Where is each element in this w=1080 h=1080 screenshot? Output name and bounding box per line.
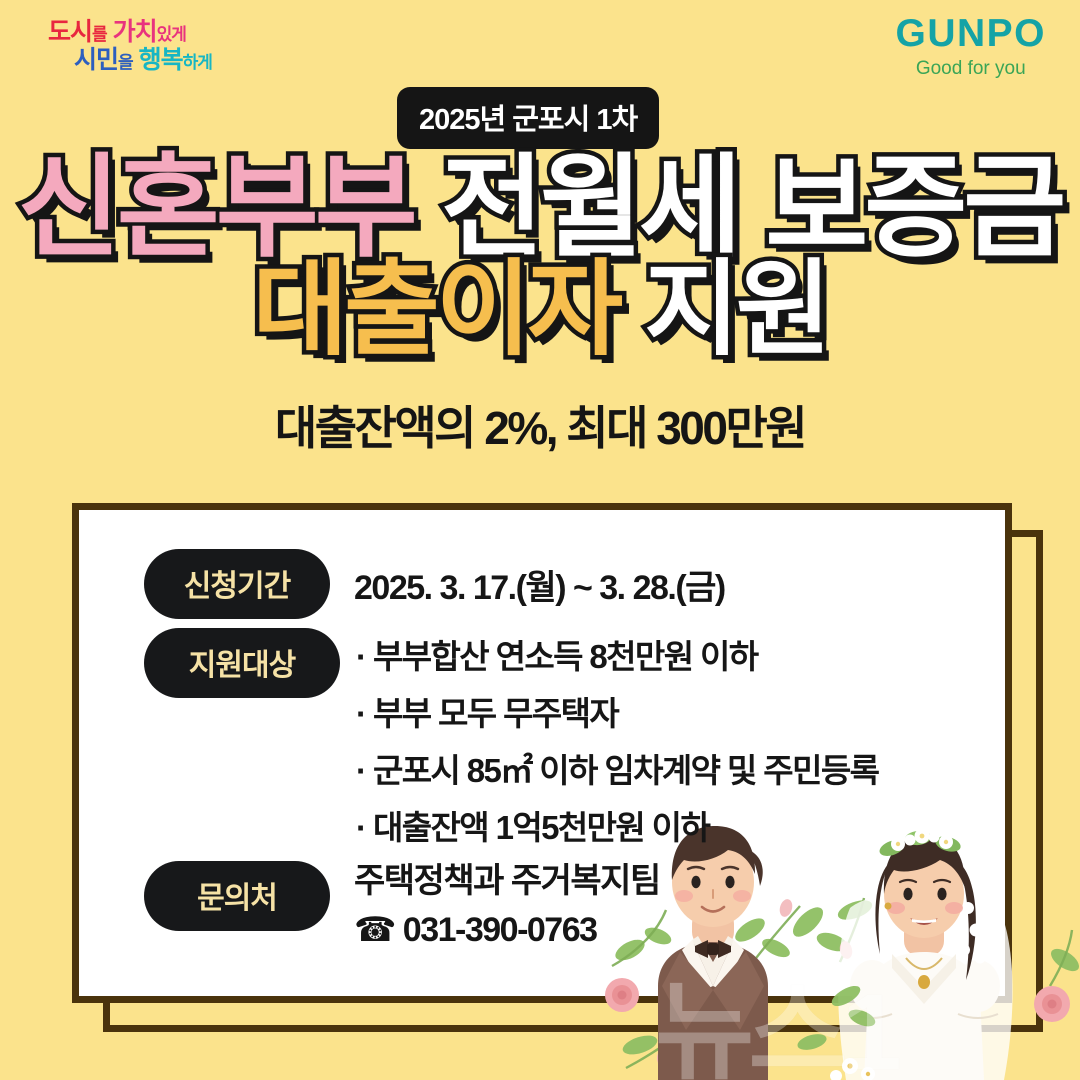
title-subtitle: 대출잔액의 2%, 최대 300만원 bbox=[0, 392, 1080, 458]
logo-wordmark: GUNPO bbox=[895, 14, 1046, 53]
logo-tagline: Good for you bbox=[895, 58, 1046, 80]
pill-eligibility: 지원대상 bbox=[144, 628, 340, 698]
contact-phone[interactable]: ☎ 031-390-0763 bbox=[354, 910, 660, 950]
slogan-word-simin: 시민 bbox=[74, 46, 118, 74]
poster-root: 도시를 가치있게 시민을 행복하게 GUNPO Good for you 202… bbox=[0, 0, 1080, 1080]
eligibility-bullet-3: · 군포시 85㎡ 이하 임차계약 및 주민등록 bbox=[356, 744, 878, 792]
row-eligibility: 지원대상 · 부부합산 연소득 8천만원 이하 · 부부 모두 무주택자 · 군… bbox=[144, 628, 878, 849]
program-badge: 2025년 군포시 1차 bbox=[397, 87, 659, 149]
gunpo-logo: GUNPO Good for you bbox=[895, 14, 1046, 80]
slogan-word-gachi: 가치 bbox=[113, 18, 157, 46]
pill-contact: 문의처 bbox=[144, 861, 330, 931]
slogan-particle-reul: 를 bbox=[92, 25, 107, 44]
title-word-support: 지원 bbox=[644, 252, 827, 368]
contact-department: 주택정책과 주거복지팀 bbox=[354, 853, 660, 902]
slogan-line-1: 도시를 가치있게 bbox=[48, 18, 212, 46]
eligibility-bullet-1: · 부부합산 연소득 8천만원 이하 bbox=[356, 630, 878, 678]
slogan-particle-eul: 을 bbox=[118, 53, 133, 72]
pill-application-period: 신청기간 bbox=[144, 549, 330, 619]
contact-lines: 주택정책과 주거복지팀 ☎ 031-390-0763 bbox=[354, 853, 660, 950]
info-rows: 신청기간 2025. 3. 17.(월) ~ 3. 28.(금) 지원대상 · … bbox=[72, 503, 1012, 1003]
application-period-value: 2025. 3. 17.(월) ~ 3. 28.(금) bbox=[354, 560, 725, 609]
slogan-word-haengbok: 행복 bbox=[139, 46, 183, 74]
eligibility-bullet-4: · 대출잔액 1억5천만원 이하 bbox=[356, 801, 878, 849]
slogan-word-dosi: 도시 bbox=[48, 18, 92, 46]
eligibility-bullet-2: · 부부 모두 무주택자 bbox=[356, 687, 878, 735]
title-line-2: 대출이자 지원 bbox=[0, 258, 1080, 362]
slogan-suffix-hage: 하게 bbox=[183, 53, 212, 72]
row-contact: 문의처 주택정책과 주거복지팀 ☎ 031-390-0763 bbox=[144, 853, 660, 950]
title-word-loan-interest: 대출이자 bbox=[252, 252, 619, 368]
city-slogan: 도시를 가치있게 시민을 행복하게 bbox=[48, 18, 212, 74]
eligibility-bullets: · 부부합산 연소득 8천만원 이하 · 부부 모두 무주택자 · 군포시 85… bbox=[356, 630, 878, 849]
row-application-period: 신청기간 2025. 3. 17.(월) ~ 3. 28.(금) bbox=[144, 549, 725, 619]
main-title: 신혼부부 전월세 보증금 대출이자 지원 bbox=[0, 152, 1080, 362]
slogan-line-2: 시민을 행복하게 bbox=[48, 46, 212, 74]
slogan-suffix-itge: 있게 bbox=[157, 25, 186, 44]
title-line-1: 신혼부부 전월세 보증금 bbox=[0, 152, 1080, 264]
